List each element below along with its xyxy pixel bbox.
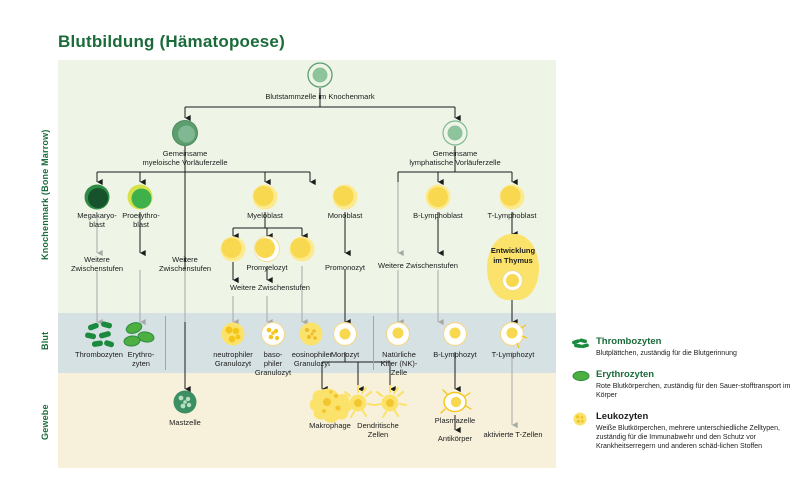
legend: Thrombozyten Blutplättchen, zuständig fü…: [572, 336, 794, 462]
cell-stem: [308, 63, 332, 87]
label-t-lymphozyt: T-Lymphozyt: [481, 350, 545, 360]
cell-t-lymphoblast: [500, 185, 525, 210]
label-myeloblast: Myeloblast: [225, 211, 305, 221]
label-promyelozyt: Promyelozyt: [234, 263, 300, 273]
cell-nk: [387, 323, 410, 346]
label-eosinophil-2: Granulozyt: [281, 359, 343, 369]
cell-erythrozyten: [124, 321, 155, 347]
label-dendritisch-2: Zellen: [343, 430, 413, 440]
label-monoblast: Monoblast: [312, 211, 378, 221]
erythrocyte-icon: [572, 370, 590, 382]
cell-mastzelle: [174, 391, 197, 414]
label-inter-1-line2: Zwischenstufen: [62, 264, 132, 274]
platelet-icon: [572, 337, 590, 349]
label-plasmazelle: Plasmazelle: [424, 416, 486, 426]
legend-title-thrombozyten: Thrombozyten: [596, 336, 794, 348]
cell-neutrophil: [222, 323, 245, 346]
cell-basophil: [262, 323, 285, 346]
label-stem-cell: Blutstammzelle im Knochenmark: [250, 92, 390, 102]
cell-in-thymus-nucleus: [506, 274, 519, 287]
cell-plasmazelle: [441, 390, 471, 413]
cell-megakaryoblast: [85, 185, 110, 210]
thymus-label-line1: Entwicklung: [487, 246, 539, 256]
legend-title-leukozyten: Leukozyten: [596, 411, 794, 423]
cell-proerythroblast: [128, 185, 153, 210]
cell-promyelo-3: [290, 237, 315, 262]
label-b-lymphozyt: B-Lymphozyt: [423, 350, 487, 360]
legend-desc-leukozyten: Weiße Blutkörperchen, mehrere unterschie…: [596, 424, 794, 451]
label-mastzelle: Mastzelle: [153, 418, 217, 428]
legend-item-erythrozyten: Erythrozyten Rote Blutkörperchen, zustän…: [572, 369, 794, 400]
label-monozyt: Monozyt: [317, 350, 373, 360]
label-myeloid-progenitor-2: myeloische Vorläuferzelle: [125, 158, 245, 168]
cell-dendritic-2: [375, 386, 406, 417]
cell-promyelo-2: [255, 237, 280, 262]
cell-b-lymphoblast: [426, 185, 451, 210]
legend-title-erythrozyten: Erythrozyten: [596, 369, 794, 381]
label-t-lymphoblast: T-Lymphoblast: [474, 211, 550, 221]
label-inter-2-line2: Zwischenstufen: [150, 264, 220, 274]
cell-monoblast: [333, 185, 358, 210]
cell-b-lymphozyt: [444, 323, 467, 346]
cell-myeloid-progenitor: [173, 121, 198, 146]
label-aktivierte-t-zellen: aktivierte T-Zellen: [470, 430, 556, 440]
label-proerythroblast-2: blast: [106, 220, 176, 230]
label-basophil-3: Granulozyt: [249, 368, 297, 378]
label-nk-3: Zelle: [371, 368, 427, 378]
label-erythrozyten-2: zyten: [115, 359, 167, 369]
legend-desc-erythrozyten: Rote Blutkörperchen, zuständig für den S…: [596, 382, 794, 400]
label-inter-lymph: Weitere Zwischenstufen: [363, 261, 473, 271]
label-lymphoid-progenitor-2: lymphatische Vorläuferzelle: [393, 158, 517, 168]
cell-t-lymphozyt: [501, 323, 528, 349]
label-inter-myelo: Weitere Zwischenstufen: [215, 283, 325, 293]
cell-promyelo-1: [221, 237, 246, 262]
cell-monozyt: [334, 323, 357, 346]
leukocyte-icon: [572, 412, 590, 424]
cell-thrombozyten: [85, 321, 115, 348]
cell-lymphoid-progenitor: [443, 121, 467, 145]
thymus-label-line2: im Thymus: [487, 256, 539, 266]
legend-item-leukozyten: Leukozyten Weiße Blutkörperchen, mehrere…: [572, 411, 794, 451]
cell-eosinophil: [300, 323, 323, 346]
legend-desc-thrombozyten: Blutplättchen, zuständig für die Blutger…: [596, 349, 794, 358]
legend-item-thrombozyten: Thrombozyten Blutplättchen, zuständig fü…: [572, 336, 794, 358]
cell-myeloblast: [253, 185, 278, 210]
label-b-lymphoblast: B-Lymphoblast: [400, 211, 476, 221]
